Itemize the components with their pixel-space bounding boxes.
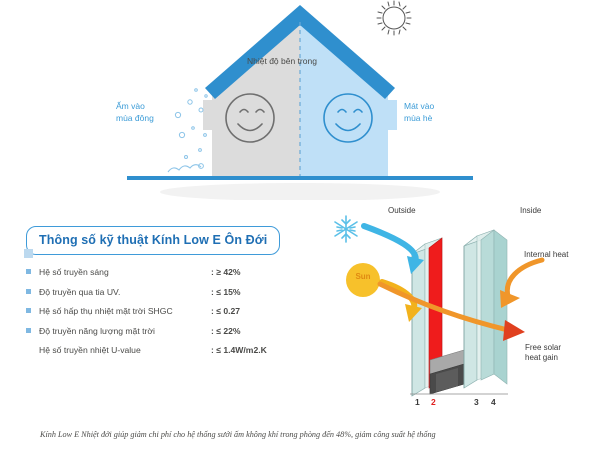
label-cool-in-summer-line1: Mát vào — [404, 100, 434, 112]
bullet-square-icon — [26, 328, 31, 333]
bullet-square-icon — [26, 347, 31, 352]
spec-row: Độ truyền qua tia UV. : ≤ 15% — [26, 287, 306, 297]
label-free-solar-line1: Free solar — [525, 343, 561, 353]
spec-value: : ≥ 42% — [211, 267, 241, 277]
label-free-solar-line2: heat gain — [525, 353, 561, 363]
label-free-solar-heat-gain: Free solar heat gain — [525, 343, 561, 363]
pane-number-1: 1 — [415, 397, 420, 407]
pane-number-3: 3 — [474, 397, 479, 407]
spec-value: : ≤ 15% — [211, 287, 241, 297]
house-illustration: Ấm vào mùa đông Mát vào mùa hè Nhiệt độ … — [0, 0, 600, 200]
spec-value: : ≤ 0.27 — [211, 306, 240, 316]
glass-diagram-svg — [312, 198, 600, 423]
label-warm-in-winter: Ấm vào mùa đông — [116, 100, 154, 124]
spec-label: Hệ số hấp thụ nhiệt mặt trời SHGC — [39, 306, 211, 316]
house-illustration-svg — [0, 0, 600, 200]
spec-row: Hệ số truyền sáng : ≥ 42% — [26, 267, 306, 277]
spec-label: Độ truyền năng lượng mặt trời — [39, 326, 211, 336]
pane-number-4: 4 — [491, 397, 496, 407]
spec-label: Hệ số truyền nhiệt U-value — [39, 345, 211, 355]
glass-cross-section-diagram: Outside Inside Internal heat Free solar … — [312, 198, 600, 423]
spec-value: : ≤ 1.4W/m2.K — [211, 345, 267, 355]
inner-glass-unit — [464, 230, 507, 388]
bullet-square-icon — [26, 308, 31, 313]
snowflake-icon — [335, 216, 357, 242]
spec-title-box: Thông số kỹ thuật Kính Low E Ôn Đới — [26, 226, 280, 255]
label-cool-in-summer-line2: mùa hè — [404, 112, 434, 124]
spec-list: Hệ số truyền sáng : ≥ 42% Độ truyền qua … — [26, 267, 306, 355]
spec-row: Hệ số truyền nhiệt U-value : ≤ 1.4W/m2.K — [26, 345, 306, 355]
label-inside: Inside — [520, 206, 541, 216]
label-warm-in-winter-line1: Ấm vào — [116, 100, 154, 112]
spec-label: Hệ số truyền sáng — [39, 267, 211, 277]
spec-row: Hệ số hấp thụ nhiệt mặt trời SHGC : ≤ 0.… — [26, 306, 306, 316]
label-sun: Sun — [346, 272, 380, 281]
footer-caption: Kính Low E Nhiệt đới giúp giảm chi phí c… — [40, 430, 580, 439]
label-cool-in-summer: Mát vào mùa hè — [404, 100, 434, 124]
bullet-square-icon — [26, 289, 31, 294]
label-warm-in-winter-line2: mùa đông — [116, 112, 154, 124]
bullet-square-icon — [26, 269, 31, 274]
pane-number-2: 2 — [431, 397, 436, 407]
spec-title: Thông số kỹ thuật Kính Low E Ôn Đới — [39, 233, 267, 247]
label-internal-heat: Internal heat — [524, 250, 568, 260]
spec-value: : ≤ 22% — [211, 326, 241, 336]
spec-row: Độ truyền năng lượng mặt trời : ≤ 22% — [26, 326, 306, 336]
label-outside: Outside — [388, 206, 416, 216]
label-inside-temperature: Nhiệt độ bên trong — [247, 56, 317, 66]
spec-panel: Thông số kỹ thuật Kính Low E Ôn Đới Hệ s… — [26, 226, 306, 365]
spec-label: Độ truyền qua tia UV. — [39, 287, 211, 297]
